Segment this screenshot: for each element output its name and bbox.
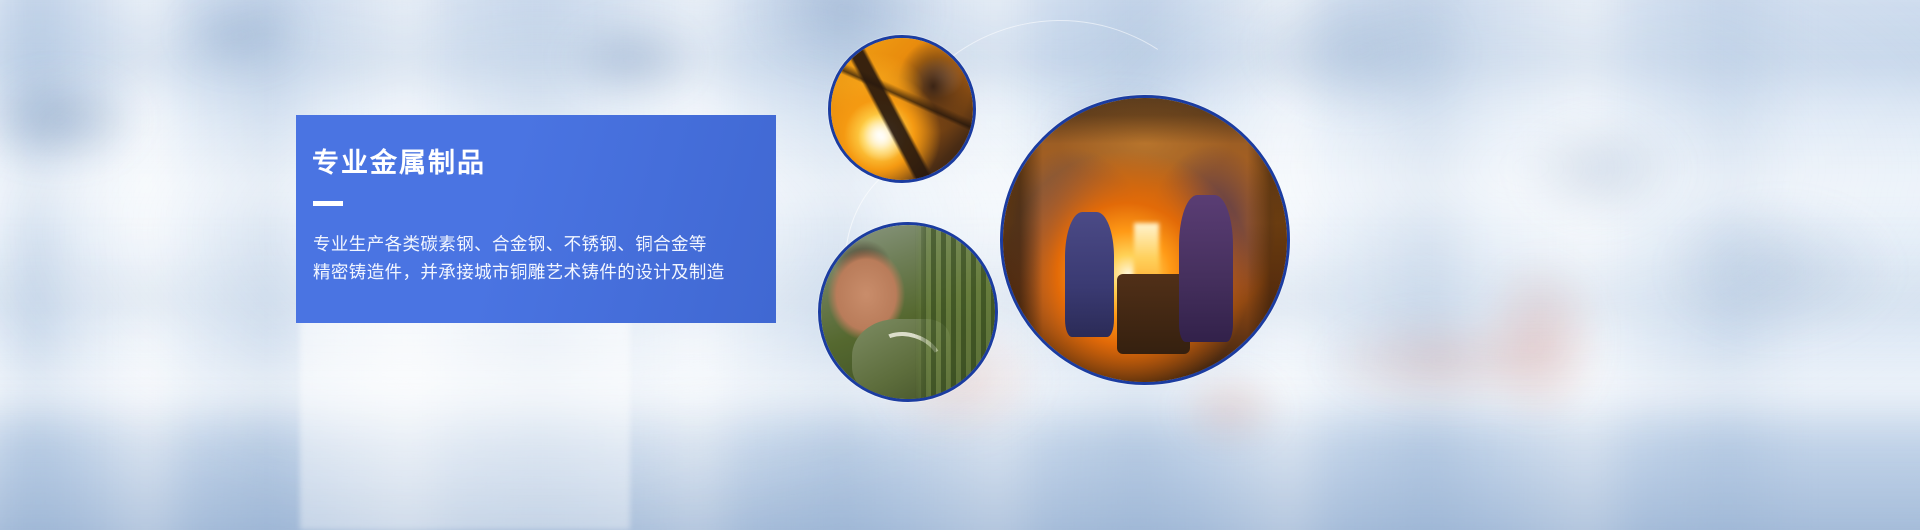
hero-banner: 专业金属制品 专业生产各类碳素钢、合金钢、不锈钢、铜合金等 精密铸造件，并承接城… [0, 0, 1920, 530]
foundry-pour-photo [1000, 95, 1290, 385]
banner-title: 专业金属制品 [304, 149, 776, 179]
welding-sparks-photo [828, 35, 976, 183]
promo-text-box: 专业金属制品 专业生产各类碳素钢、合金钢、不锈钢、铜合金等 精密铸造件，并承接城… [296, 115, 776, 323]
title-divider [313, 201, 343, 206]
woman-assembly-photo [818, 222, 998, 402]
banner-description: 专业生产各类碳素钢、合金钢、不锈钢、铜合金等 精密铸造件，并承接城市铜雕艺术铸件… [304, 230, 776, 287]
